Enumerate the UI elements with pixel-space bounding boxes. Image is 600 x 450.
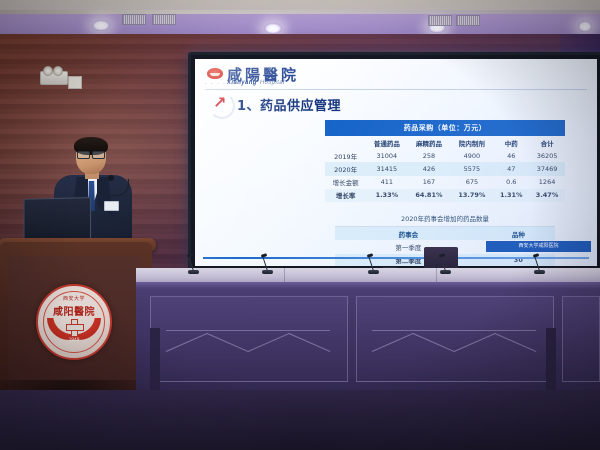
hospital-emblem: 西安大学 咸阳醫院 1949 (36, 284, 112, 360)
table2-caption: 2020年药事会增加的药品数量 (335, 211, 555, 227)
table1-r3-c5: 3.47% (529, 189, 565, 202)
table1-r3-c0: 增长率 (325, 189, 366, 202)
air-vent-icon (152, 14, 176, 25)
slide-footer-badge: 西安大学咸阳医院 (486, 241, 591, 252)
logo-en-sub: Hospital (260, 80, 285, 86)
table1-r0-c0: 2019年 (325, 149, 366, 162)
floor-reflection (0, 390, 600, 450)
medical-cross-icon (66, 319, 82, 335)
table1-header-row: 普通药品 麻精药品 院内制剂 中药 合计 (325, 136, 565, 149)
gooseneck-microphone (440, 252, 452, 274)
logo-dots: · · · · (205, 81, 226, 87)
table1-r3-c3: 13.79% (450, 189, 493, 202)
slide-surface: · · · · 咸陽醫院 XianyangHospital ↗ 1、药品供应管理… (195, 59, 597, 266)
table-row: 2019年 31004 258 4900 46 36205 (325, 149, 565, 162)
table1-col-4: 中药 (493, 136, 529, 149)
gooseneck-microphone (368, 252, 380, 274)
conference-table-lip (136, 282, 600, 289)
table-leg (150, 328, 160, 390)
table1-r2-c0: 增长金额 (325, 176, 366, 189)
table1-col-3: 院内制剂 (450, 136, 493, 149)
air-vent-icon (122, 14, 146, 25)
table1: 普通药品 麻精药品 院内制剂 中药 合计 2019年 31004 258 490… (325, 136, 565, 202)
table1-r0-c4: 46 (493, 149, 529, 162)
table-row: 增长金额 411 167 675 0.6 1264 (325, 176, 565, 189)
table1-r2-c5: 1264 (529, 176, 565, 189)
table-row: 2020年 31415 426 5575 47 37469 (325, 162, 565, 175)
air-vent-icon (456, 15, 480, 26)
air-vent-icon (428, 15, 452, 26)
table1-r0-c2: 258 (407, 149, 450, 162)
arrow-up-right-icon: ↗ (209, 93, 231, 115)
table1-r2-c2: 167 (407, 176, 450, 189)
ceiling-cove-light (0, 14, 600, 36)
table2-r0-c0: 第一季度 (335, 240, 482, 253)
ceiling-downlight (578, 21, 592, 32)
table1-r2-c3: 675 (450, 176, 493, 189)
table1-col-2: 麻精药品 (407, 136, 450, 149)
table-chevron-motif (372, 330, 536, 361)
emblem-year: 1949 (38, 338, 110, 343)
mic-neck (534, 256, 540, 272)
logo-en-main: Xianyang (227, 80, 257, 86)
slide-title-row: ↗ 1、药品供应管理 (209, 93, 341, 115)
table2-header-row: 药事会 品种 (335, 227, 555, 240)
table-panel (562, 296, 600, 382)
table1-r1-c1: 31415 (366, 162, 407, 175)
table1-r2-c4: 0.6 (493, 176, 529, 189)
hospital-logo-icon (207, 68, 223, 79)
table-leg (546, 328, 556, 390)
table1-r0-c5: 36205 (529, 149, 565, 162)
name-badge (104, 201, 119, 211)
table1-r1-c2: 426 (407, 162, 450, 175)
slide-header: · · · · 咸陽醫院 XianyangHospital (203, 63, 589, 89)
table1-r0-c1: 31004 (366, 149, 407, 162)
hospital-name-en: XianyangHospital (227, 80, 285, 86)
arrow-glyph: ↗ (213, 96, 226, 112)
table-chevron-motif (166, 330, 330, 361)
table1-r1-c3: 5575 (450, 162, 493, 175)
table2-r1-c0: 第二季度 (335, 254, 482, 266)
gooseneck-microphone (188, 252, 200, 274)
table1-r2-c1: 411 (366, 176, 407, 189)
header-divider (205, 89, 587, 90)
table1-col-1: 普通药品 (366, 136, 407, 149)
drug-procurement-table: 药品采购（单位：万元） 普通药品 麻精药品 院内制剂 中药 合计 2019年 3… (325, 120, 565, 202)
podium-mic-head (108, 175, 114, 181)
table1-col-0 (325, 136, 366, 149)
ceiling-downlight (264, 23, 282, 34)
table2-col-1: 品种 (482, 227, 555, 240)
mic-neck (188, 256, 194, 272)
table1-r0-c3: 4900 (450, 149, 493, 162)
emergency-light-icon (40, 71, 68, 85)
slide-title: 1、药品供应管理 (237, 95, 341, 114)
wall-switch-box (68, 76, 82, 89)
mic-neck (368, 256, 374, 272)
emblem-name: 咸阳醫院 (38, 303, 110, 318)
table1-r3-c1: 1.33% (366, 189, 407, 202)
table1-r1-c4: 47 (493, 162, 529, 175)
photo-scene: · · · · 咸陽醫院 XianyangHospital ↗ 1、药品供应管理… (0, 0, 600, 450)
table1-band-title: 药品采购（单位：万元） (325, 120, 565, 136)
mic-neck (440, 256, 446, 272)
slide-footer-text: 西安大学咸阳医院 (486, 241, 591, 252)
table1-r1-c0: 2020年 (325, 162, 366, 175)
table1-r1-c5: 37469 (529, 162, 565, 175)
table1-r3-c2: 64.81% (407, 189, 450, 202)
table-row: 增长率 1.33% 64.81% 13.79% 1.31% 3.47% (325, 189, 565, 202)
emblem-top-text: 西安大学 (38, 295, 110, 302)
presentation-display: · · · · 咸陽醫院 XianyangHospital ↗ 1、药品供应管理… (188, 52, 600, 273)
table1-col-5: 合计 (529, 136, 565, 149)
mic-neck (262, 256, 268, 272)
ceiling-downlight (92, 20, 110, 31)
gooseneck-microphone (534, 252, 546, 274)
glasses-icon (77, 151, 105, 157)
table2-col-0: 药事会 (335, 227, 482, 240)
table1-r3-c4: 1.31% (493, 189, 529, 202)
gooseneck-microphone (262, 252, 274, 274)
